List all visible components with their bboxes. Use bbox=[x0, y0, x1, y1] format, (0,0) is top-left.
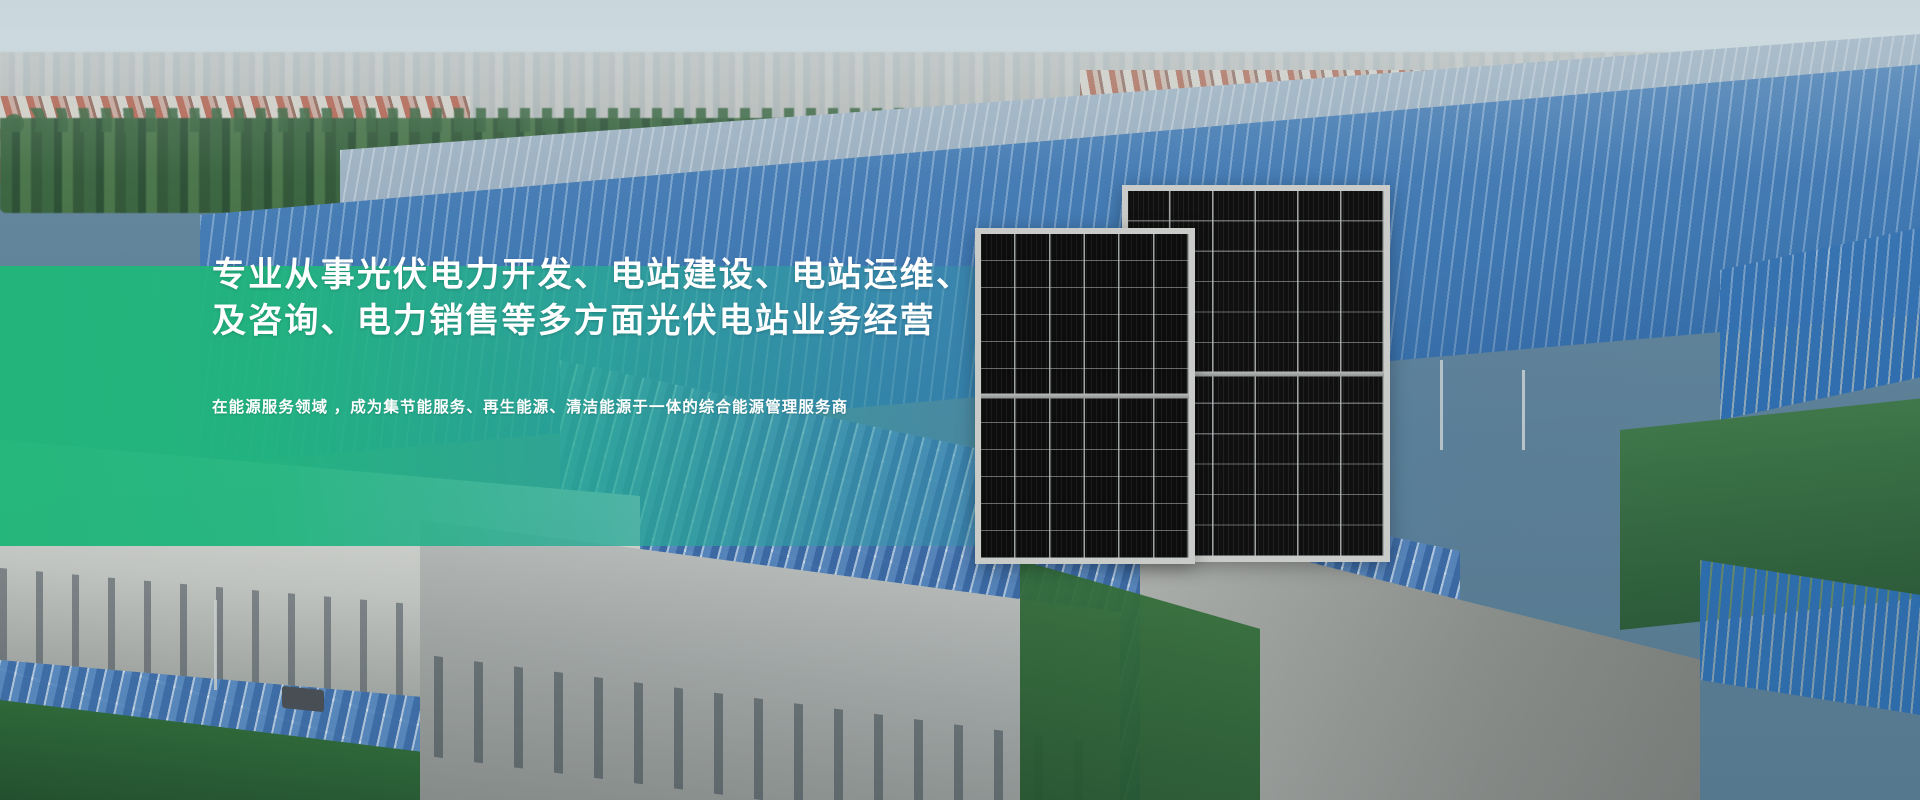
solar-panel-front bbox=[975, 228, 1195, 564]
solar-cell-grid-front bbox=[981, 234, 1189, 558]
hero-banner: 专业从事光伏电力开发、电站建设、电站运维、电站设计 及咨询、电力销售等多方面光伏… bbox=[0, 0, 1920, 800]
